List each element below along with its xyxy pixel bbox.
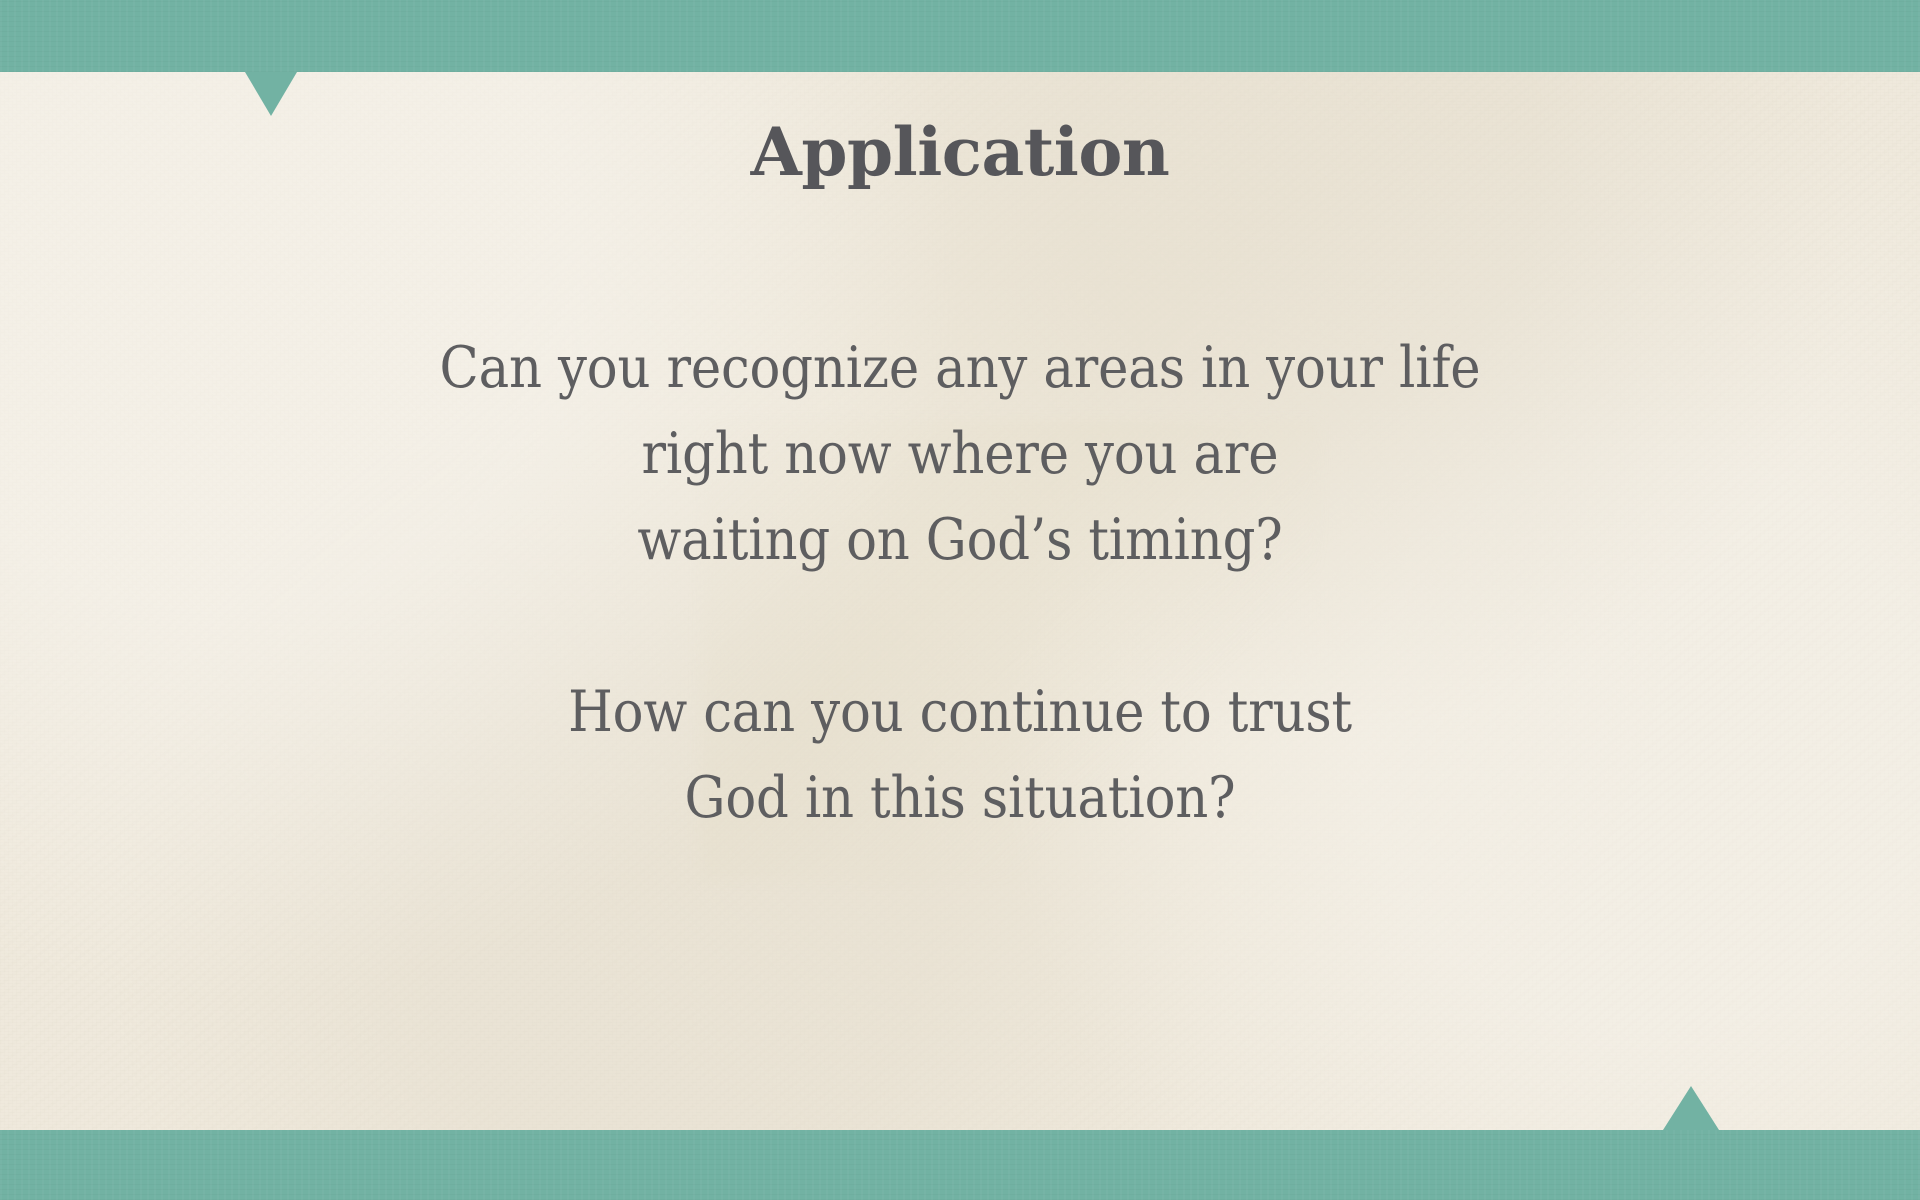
body-line-5: God in this situation?: [96, 755, 1824, 841]
body-line-3: waiting on God’s timing?: [96, 497, 1824, 583]
presentation-slide: Application Can you recognize any areas …: [0, 0, 1920, 1200]
slide-title: Application: [0, 118, 1920, 187]
body-line-4: How can you continue to trust: [96, 669, 1824, 755]
slide-content: Application Can you recognize any areas …: [0, 0, 1920, 1200]
body-line-2: right now where you are: [96, 411, 1824, 497]
body-line-1: Can you recognize any areas in your life: [96, 325, 1824, 411]
slide-body: Can you recognize any areas in your life…: [0, 325, 1920, 841]
paragraph-spacer: [0, 583, 1920, 669]
